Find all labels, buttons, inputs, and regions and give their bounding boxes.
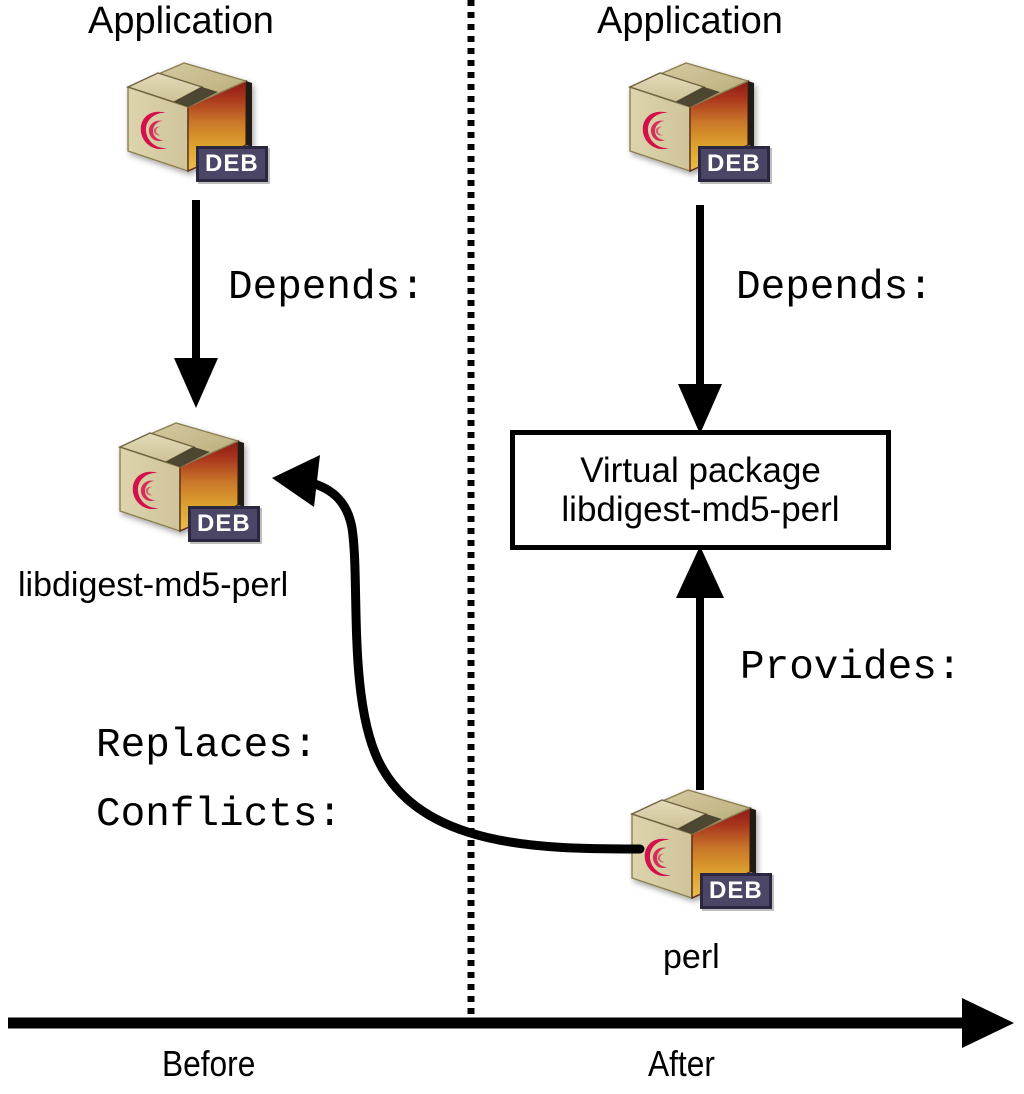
after-application-label: Application — [597, 2, 783, 40]
diagram-canvas: Application Depends: libdigest-md5-perl … — [0, 0, 1024, 1094]
after-depends-arrow — [678, 205, 722, 434]
conflicts-label: Conflicts: — [96, 795, 342, 836]
after-application-deb-badge: DEB — [698, 146, 770, 182]
before-application-label: Application — [88, 2, 274, 40]
before-application-deb-badge: DEB — [196, 146, 268, 182]
before-target-package-label: libdigest-md5-perl — [18, 568, 288, 602]
timeline-before-label: Before — [162, 1046, 255, 1082]
after-provider-package-label: perl — [663, 940, 720, 974]
before-depends-arrow — [174, 200, 218, 408]
after-provider-deb-badge: DEB — [700, 873, 772, 909]
provides-label: Provides: — [740, 648, 961, 689]
after-depends-label: Depends: — [736, 268, 933, 309]
replaces-label: Replaces: — [96, 726, 317, 767]
after-provides-arrow — [676, 546, 724, 790]
virtual-package-line1: Virtual package — [580, 451, 821, 490]
timeline-axis — [8, 998, 1014, 1048]
virtual-package-box: Virtual package libdigest-md5-perl — [510, 430, 891, 550]
timeline-after-label: After — [648, 1046, 715, 1082]
before-target-deb-badge: DEB — [188, 506, 260, 542]
virtual-package-line2: libdigest-md5-perl — [561, 490, 839, 529]
before-depends-label: Depends: — [228, 268, 425, 309]
